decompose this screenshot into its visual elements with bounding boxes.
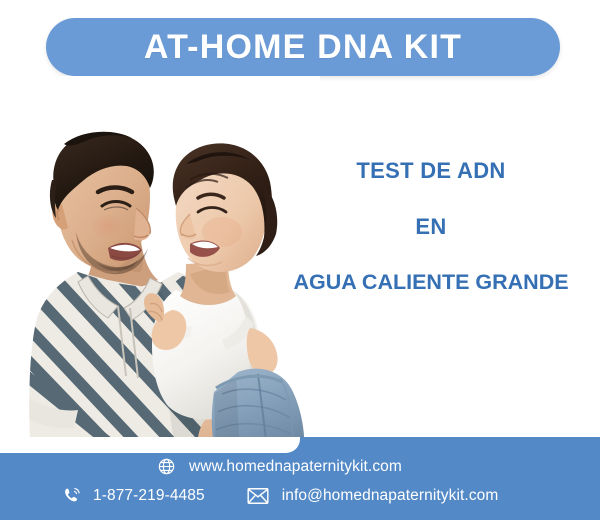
footer-contact-row: 1-877-219-4485 info@homednapaternitykit.… bbox=[62, 486, 498, 506]
email-item: info@homednapaternitykit.com bbox=[247, 487, 499, 505]
headline-line-3: AGUA CALIENTE GRANDE bbox=[268, 272, 594, 294]
phone-item: 1-877-219-4485 bbox=[62, 486, 205, 506]
footer-website-row: www.homednapaternitykit.com bbox=[157, 457, 402, 476]
envelope-icon bbox=[247, 487, 269, 505]
website-label[interactable]: www.homednapaternitykit.com bbox=[189, 458, 402, 476]
headline-line-1: TEST DE ADN bbox=[268, 160, 594, 182]
header-banner: AT-HOME DNA KIT bbox=[46, 18, 560, 76]
headline-block: TEST DE ADN EN AGUA CALIENTE GRANDE bbox=[268, 160, 594, 294]
phone-label[interactable]: 1-877-219-4485 bbox=[93, 487, 205, 505]
email-label[interactable]: info@homednapaternitykit.com bbox=[282, 487, 499, 505]
footer-notch bbox=[0, 437, 300, 453]
phone-icon bbox=[62, 486, 82, 506]
header-title: AT-HOME DNA KIT bbox=[144, 30, 462, 64]
poster: AT-HOME DNA KIT bbox=[0, 0, 600, 520]
globe-icon bbox=[157, 457, 176, 476]
headline-line-2: EN bbox=[268, 216, 594, 238]
